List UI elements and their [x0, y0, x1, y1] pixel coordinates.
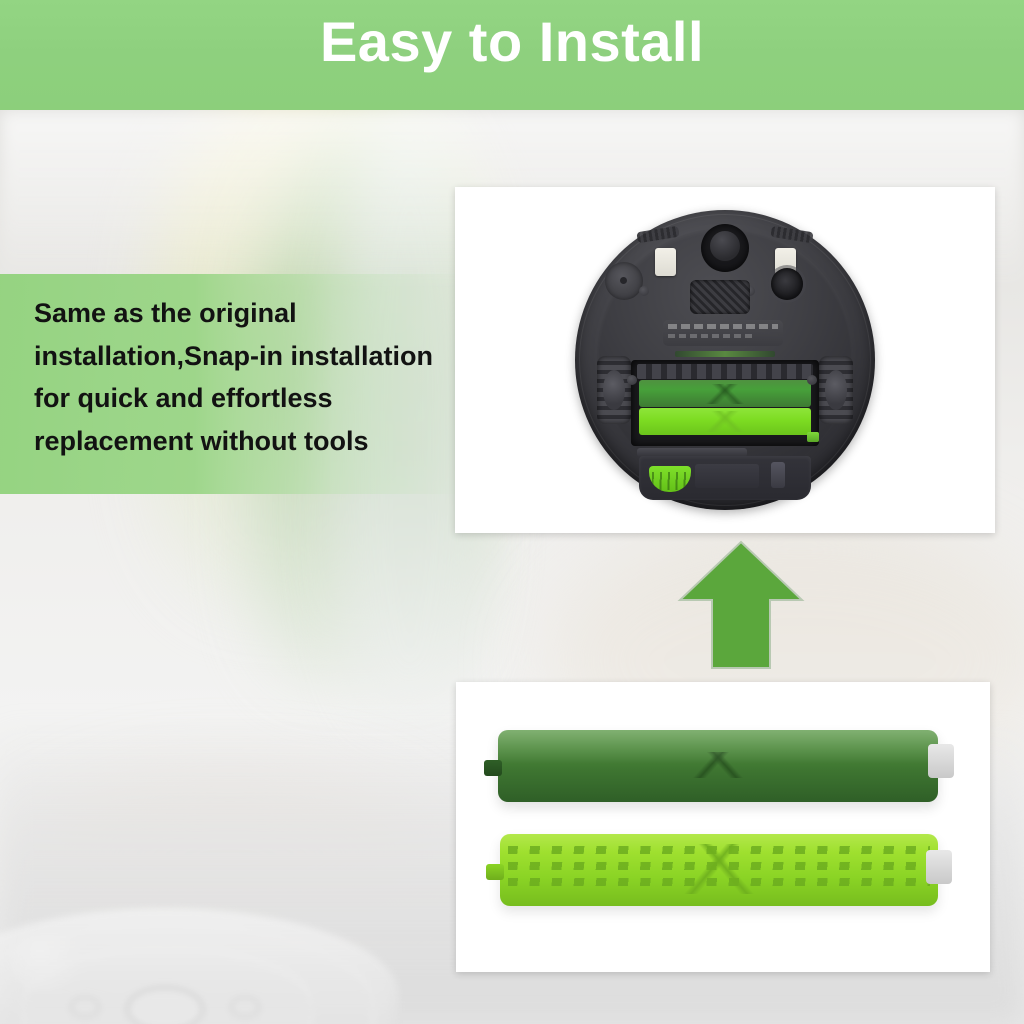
robot-photo-card — [455, 187, 995, 533]
screw-lower-left — [627, 375, 637, 385]
front-side-wheel — [605, 262, 643, 300]
replacement-roller-pair — [456, 682, 990, 972]
dark-roller-drive-peg — [484, 760, 502, 776]
installed-lime-green-roller — [639, 408, 811, 435]
lime-roller-end-cap — [926, 850, 952, 884]
background-robot-vacuum — [0, 878, 400, 1024]
screw-lower-right — [807, 375, 817, 385]
callout-line-2: installation,Snap-in installation — [34, 335, 454, 378]
dustbin-window — [695, 464, 759, 488]
speaker-grille — [690, 280, 750, 314]
brush-system-badge — [675, 351, 775, 357]
install-direction-arrow — [676, 538, 806, 670]
arrow-up-icon — [676, 538, 806, 670]
callout-band: Same as the original installation,Snap-i… — [0, 274, 462, 494]
page-title: Easy to Install — [0, 14, 1024, 70]
header-banner: Easy to Install — [0, 0, 1024, 110]
label-text-line-2 — [668, 334, 753, 338]
brush-photo-card — [456, 682, 990, 972]
lime-roller-drive-peg — [486, 864, 504, 880]
roller-release-latch — [807, 432, 819, 442]
label-text-line-1 — [668, 324, 778, 329]
callout-line-3: for quick and effortless — [34, 377, 454, 420]
background-robot-spot-button — [230, 996, 260, 1018]
lime-roller-chevron — [500, 844, 938, 894]
drive-wheel-left — [597, 356, 631, 424]
infographic-canvas: Easy to Install Same as the original ins… — [0, 0, 1024, 1024]
roller-bay — [631, 360, 819, 446]
dark-green-roller — [498, 730, 938, 802]
background-robot-highlight — [10, 934, 86, 994]
callout-line-4: replacement without tools — [34, 420, 454, 463]
callout-line-1: Same as the original — [34, 292, 454, 335]
robot-vacuum-underside — [575, 210, 875, 510]
lime-green-roller — [500, 834, 938, 906]
drive-wheel-right — [819, 356, 853, 424]
side-sensor — [771, 268, 803, 300]
background-robot-home-button — [70, 996, 100, 1018]
model-label — [663, 320, 783, 346]
cliff-sensor-left — [655, 248, 676, 276]
front-caster-wheel — [701, 224, 749, 272]
roller-bay-frame — [637, 364, 813, 379]
dark-roller-end-cap — [928, 744, 954, 778]
dark-roller-sheen — [498, 730, 938, 764]
side-brush-mount — [649, 466, 691, 492]
background-robot-clean-button — [126, 986, 204, 1024]
screw-top-left — [639, 286, 649, 296]
callout-text: Same as the original installation,Snap-i… — [34, 292, 454, 463]
installed-dark-green-roller — [639, 380, 811, 407]
dustbin-tab — [771, 462, 785, 488]
